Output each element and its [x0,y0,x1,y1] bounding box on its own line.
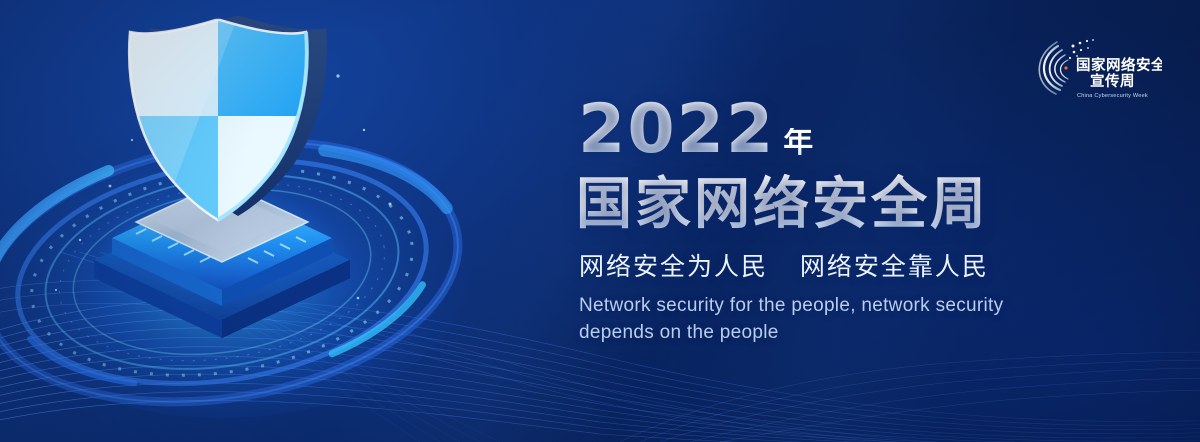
swoosh-dots-mark [1039,42,1068,94]
headline-text-block: 2022 年 国家网络安全周 网络安全为人民 网络安全靠人民 Network s… [576,96,1136,347]
year-number: 2022 [578,96,775,164]
slogan-chinese-part2: 网络安全靠人民 [800,253,989,281]
slogan-english: Network security for the people, network… [579,293,1009,347]
slogan-chinese-part1: 网络安全为人民 [579,253,768,281]
slogan-chinese: 网络安全为人民 网络安全靠人民 [579,247,1136,283]
page-title: 国家网络安全周 [576,174,1136,233]
cybersecurity-week-banner: 2022 年 国家网络安全周 网络安全为人民 网络安全靠人民 Network s… [0,0,1200,442]
logo-subtitle-english: China Cybersecurity Week [1077,93,1148,99]
logo-title-line1: 国家网络安全 [1076,56,1162,74]
china-cybersecurity-week-logo: 国家网络安全 宣传周 China Cybersecurity Week [1030,34,1162,108]
hero-security-graphic [0,0,520,442]
logo-title-line2: 宣传周 [1090,72,1135,90]
year-suffix: 年 [783,128,813,158]
